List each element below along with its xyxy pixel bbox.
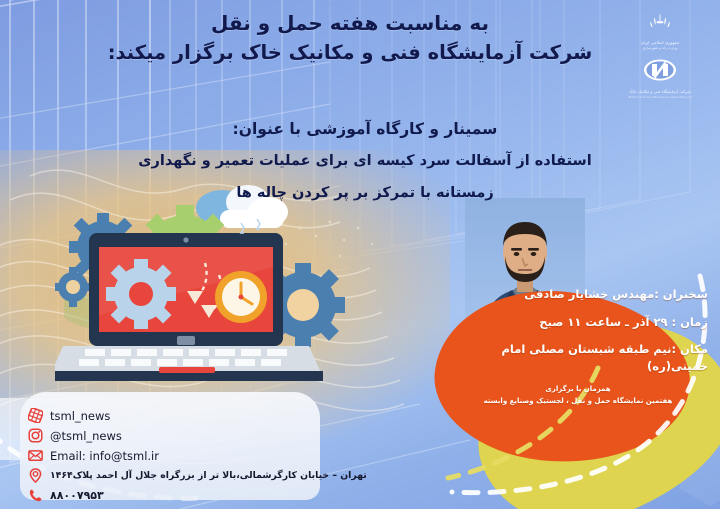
detail-place: مکان :نیم طبقه شبستان مصلی امام خمینی(ره… [448,341,708,374]
subtitle-line-2: استفاده از آسفالت سرد کیسه ای برای عملیا… [105,146,625,178]
email-icon [28,448,43,463]
event-details-block: سخنران :مهندس خشایار صادقی زمان : ۲۹ آذر… [448,286,708,407]
contact-list: tsml_news @tsml_news Email: info@tsml.ir [28,406,367,506]
headline-line-1: به مناسبت هفته حمل و نقل [100,8,600,38]
contact-text-phone: ۸۸۰۰۷۹۵۳ [50,489,104,502]
contact-row-instagram[interactable]: @tsml_news [28,426,367,445]
sparkle-icons [241,219,260,233]
contact-row-rubika[interactable]: tsml_news [28,406,367,425]
detail-speaker: سخنران :مهندس خشایار صادقی [448,286,708,303]
detail-note-block: همزمان با برگزاری هفتمین نمایشگاه حمل و … [448,384,708,408]
subtitle-block: سمینار و کارگاه آموزشی با عنوان: استفاده… [105,112,625,210]
gear-small-blue [55,267,93,307]
contact-row-phone[interactable]: ۸۸۰۰۷۹۵۳ [28,486,367,505]
phone-icon [28,488,43,503]
event-poster: جمهوری اسلامی ایران وزارت راه و شهرسازی … [0,0,720,509]
company-caption-en: Technical & Soil Mechanics Laboratory Co… [610,95,710,99]
tsml-logo-icon [643,59,677,83]
laptop-body [55,233,323,381]
contact-row-address: تهران – خیابان کارگرشمالی،بالا تر از بزر… [28,466,367,485]
logo-block: جمهوری اسلامی ایران وزارت راه و شهرسازی … [610,12,710,99]
iran-emblem-icon [645,12,675,38]
contact-text-address: تهران – خیابان کارگرشمالی،بالا تر از بزر… [50,470,367,481]
clock-icon [215,271,267,323]
subtitle-line-1: سمینار و کارگاه آموزشی با عنوان: [105,112,625,146]
company-logo-wrap: شرکت آزمایشگاه فنی و مکانیک خاک Technica… [610,59,710,99]
rubika-icon [28,408,43,423]
contact-text-rubika: tsml_news [50,409,110,423]
detail-note-1: همزمان با برگزاری [448,384,708,396]
headline-line-2: شرکت آزمایشگاه فنی و مکانیک خاک برگزار م… [100,38,600,67]
headline-block: به مناسبت هفته حمل و نقل شرکت آزمایشگاه … [100,8,600,67]
subtitle-line-3: زمستانه با تمرکز بر پر کردن چاله ها [105,178,625,210]
location-pin-icon [28,468,43,483]
contact-text-instagram: @tsml_news [50,429,122,443]
contact-text-email: Email: info@tsml.ir [50,449,159,463]
contact-row-email[interactable]: Email: info@tsml.ir [28,446,367,465]
instagram-icon [28,428,43,443]
laptop-gears-clock-illustration [55,205,395,400]
gear-light-blue-screen [106,259,176,329]
ministry-caption-2: وزارت راه و شهرسازی [610,46,710,51]
detail-note-2: هفتمین نمایشگاه حمل و نقل ، لجستیک وصنای… [448,396,708,408]
detail-time: زمان : ۲۹ آذر ـ ساعت ۱۱ صبح [448,314,708,331]
